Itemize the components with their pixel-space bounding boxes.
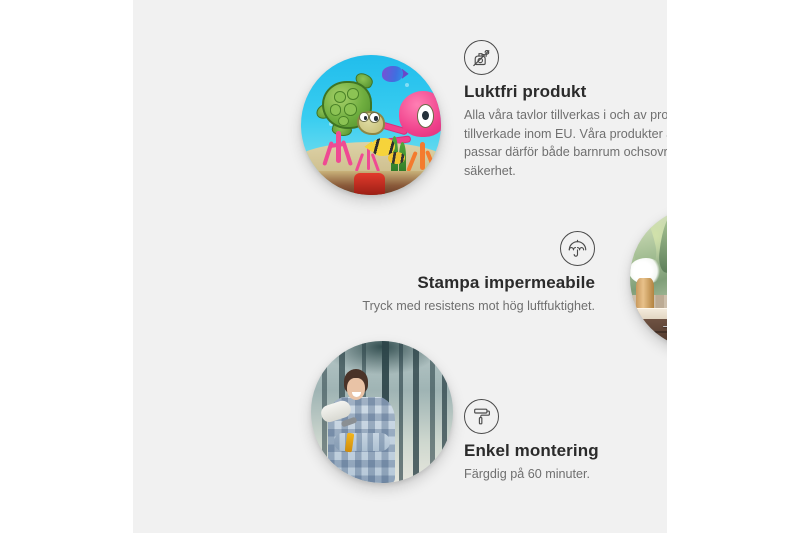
forest-scene [311,341,453,483]
tree-trunk [430,341,434,483]
smile [352,392,361,397]
image-ocean-kids-mural [301,55,441,195]
feature-title: Enkel montering [464,441,667,461]
ocean-scene [301,55,441,195]
feature-odor-free: Luktfri produkt Alla våra tavlor tillver… [464,40,667,180]
feature-title: Stampa impermeabile [343,273,595,293]
feature-description: Alla våra tavlor tillverkas i och av pro… [464,106,667,180]
icon-row [464,40,667,75]
feature-easy-mounting: Enkel montering Färgdig på 60 minuter. [464,399,667,484]
icon-row [464,399,667,434]
tree-trunk [399,341,403,483]
tree-trunk [413,341,419,483]
image-bathroom-botanical-mural [630,207,667,349]
drawer-handle [663,326,667,327]
no-fragrance-icon [464,40,499,75]
small-yellow-fish-icon [388,152,405,165]
purple-fish-icon [382,66,403,81]
crossed-arms [334,433,390,451]
feature-waterproof-print: Stampa impermeabile Tryck med resistens … [343,231,595,316]
umbrella-icon [560,231,595,266]
tree-trunk [442,341,448,483]
wood-vanity-cabinet [639,319,667,349]
icon-row [343,231,595,266]
content-panel: Luktfri produkt Alla våra tavlor tillver… [133,0,667,533]
feature-description: Tryck med resistens mot hög luftfuktighe… [343,297,595,315]
feature-description: Färgdig på 60 minuter. [464,465,667,483]
pink-coral-icon [321,131,357,176]
face [347,378,365,400]
woman-with-paint-roller [325,369,399,483]
paint-roller-icon [464,399,499,434]
image-installer-forest-mural [311,341,453,483]
bubble-icon [405,83,409,87]
product-feature-banner: Luktfri produkt Alla våra tavlor tillver… [0,0,800,533]
bathroom-scene [630,207,667,349]
feature-title: Luktfri produkt [464,82,667,102]
red-object [354,173,385,195]
